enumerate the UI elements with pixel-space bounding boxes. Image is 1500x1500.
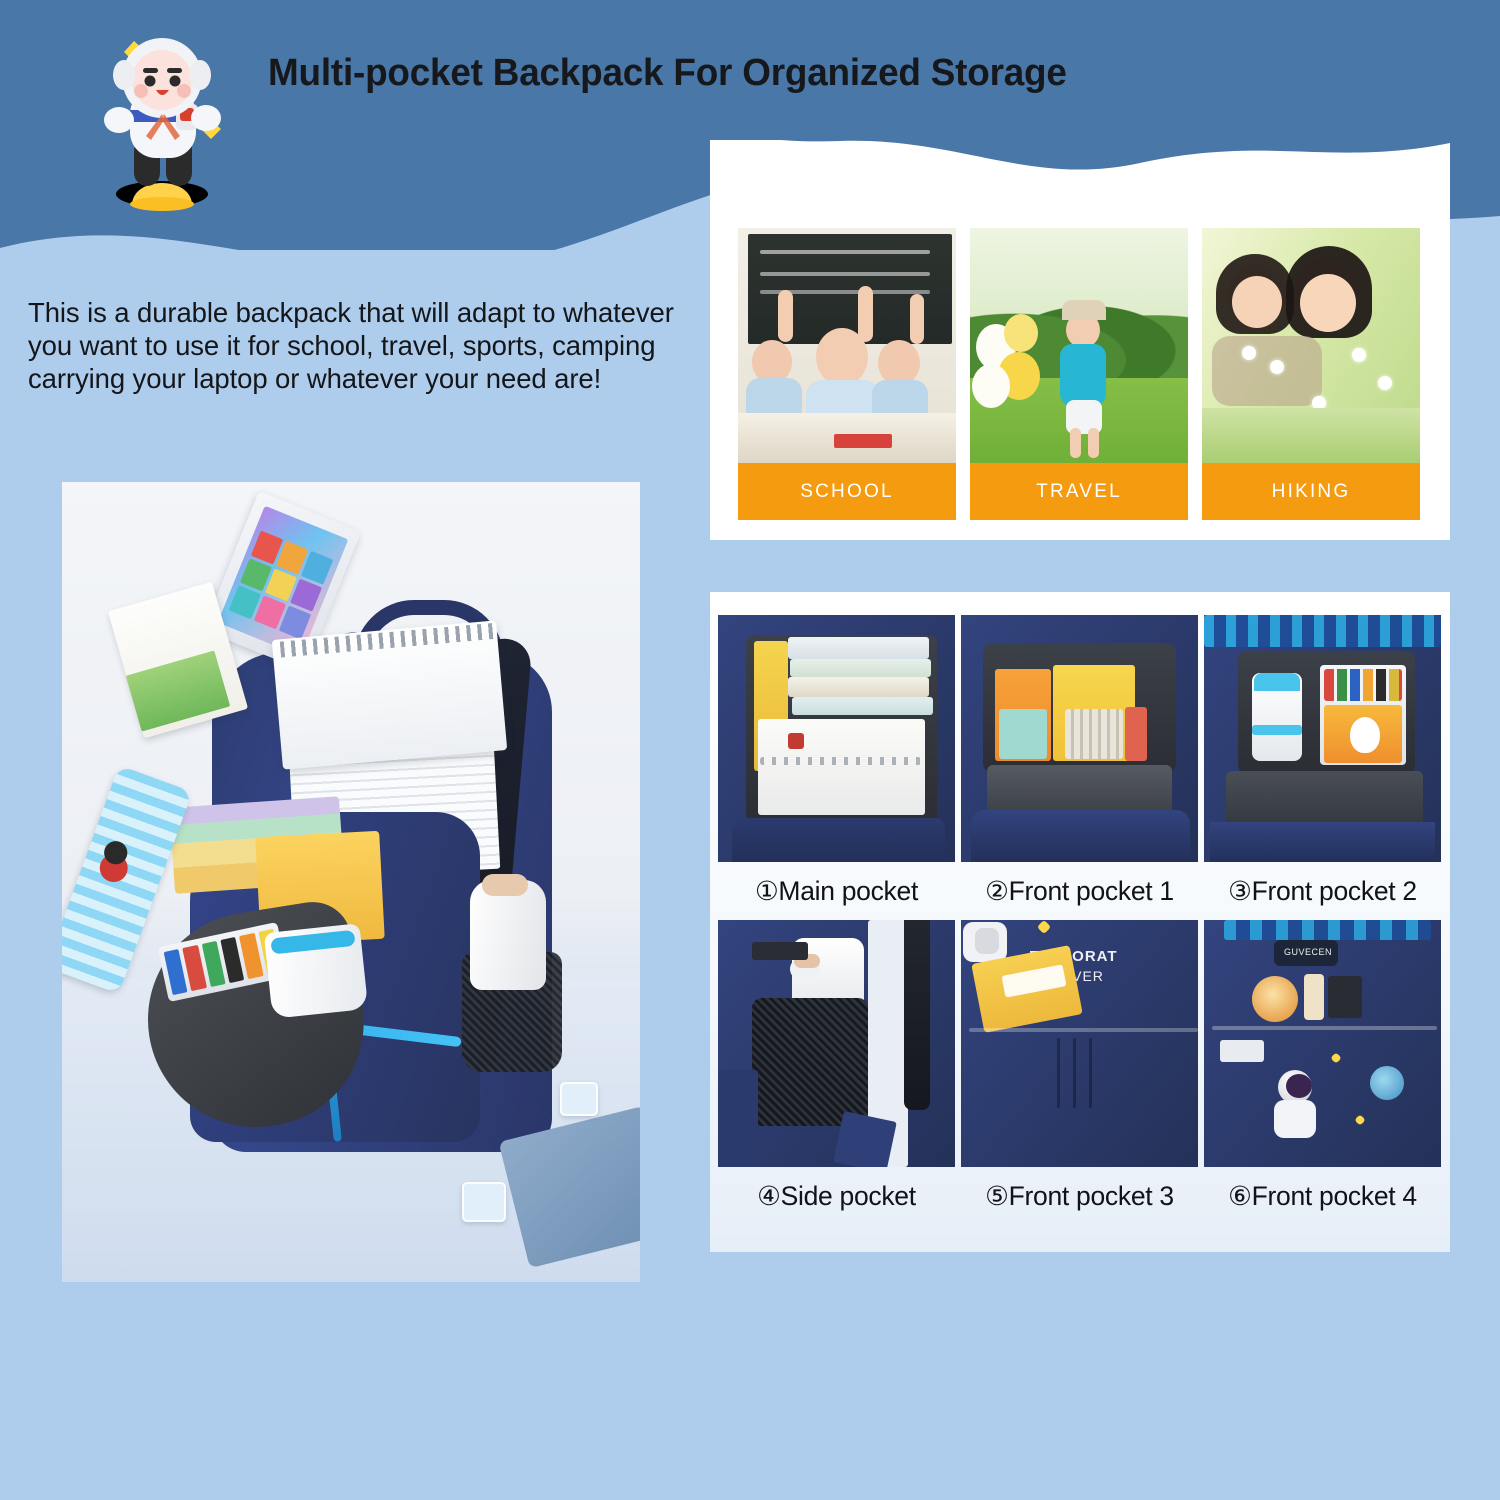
main-product-photo	[62, 482, 640, 1282]
front-pocket-4-photo: GUVECEN	[1204, 920, 1441, 1167]
travel-photo	[970, 228, 1188, 463]
scenario-card-school: SCHOOL	[738, 228, 956, 520]
pocket-row-2: ④Side pocket EXPLORAT UNIVER	[718, 920, 1442, 1225]
pocket-caption-front3: ⑤Front pocket 3	[961, 1167, 1198, 1225]
school-photo	[738, 228, 956, 463]
front-pocket-3-photo: EXPLORAT UNIVER	[961, 920, 1198, 1167]
front-pocket-1-photo	[961, 615, 1198, 862]
pocket-row-1: ①Main pocket ②Front pocket 1	[718, 615, 1442, 920]
scenarios-panel-wave-edge	[710, 133, 1450, 203]
infographic-page: Multi-pocket Backpack For Organized Stor…	[0, 0, 1500, 1500]
scenario-label-travel: TRAVEL	[970, 463, 1188, 520]
pocket-caption-front4: ⑥Front pocket 4	[1204, 1167, 1441, 1225]
pocket-cell-front3: EXPLORAT UNIVER ⑤Front pocket 3	[961, 920, 1198, 1225]
pocket-caption-main: ①Main pocket	[718, 862, 955, 920]
main-pocket-photo	[718, 615, 955, 862]
pocket-caption-side: ④Side pocket	[718, 1167, 955, 1225]
pocket-cell-front4: GUVECEN ⑥Front pocket 4	[1204, 920, 1441, 1225]
scenario-cards: SCHOOL TRAVEL	[738, 228, 1422, 520]
scenario-label-hiking: HIKING	[1202, 463, 1420, 520]
water-bottle-cap	[482, 874, 528, 896]
pocket-cell-side: ④Side pocket	[718, 920, 955, 1225]
scenario-card-travel: TRAVEL	[970, 228, 1188, 520]
pocket-cell-main: ①Main pocket	[718, 615, 955, 920]
pocket-cell-front2: ③Front pocket 2	[1204, 615, 1441, 920]
pocket-cell-front1: ②Front pocket 1	[961, 615, 1198, 920]
page-title: Multi-pocket Backpack For Organized Stor…	[268, 52, 1067, 95]
product-description: This is a durable backpack that will ada…	[28, 296, 718, 395]
side-pocket-photo	[718, 920, 955, 1167]
pocket-grid: ①Main pocket ②Front pocket 1	[718, 615, 1442, 1225]
front-pocket-2-photo	[1204, 615, 1441, 862]
scenario-label-school: SCHOOL	[738, 463, 956, 520]
brand-tag-label: GUVECEN	[1284, 947, 1332, 957]
pocket-caption-front2: ③Front pocket 2	[1204, 862, 1441, 920]
pocket-caption-front1: ②Front pocket 1	[961, 862, 1198, 920]
ice-cube-2	[462, 1182, 506, 1222]
scenario-card-hiking: HIKING	[1202, 228, 1420, 520]
ice-cube-1	[560, 1082, 598, 1116]
water-bottle	[470, 880, 546, 990]
hiking-photo	[1202, 228, 1420, 463]
cup-stack	[264, 923, 368, 1019]
astronaut-mascot-icon	[72, 18, 252, 213]
